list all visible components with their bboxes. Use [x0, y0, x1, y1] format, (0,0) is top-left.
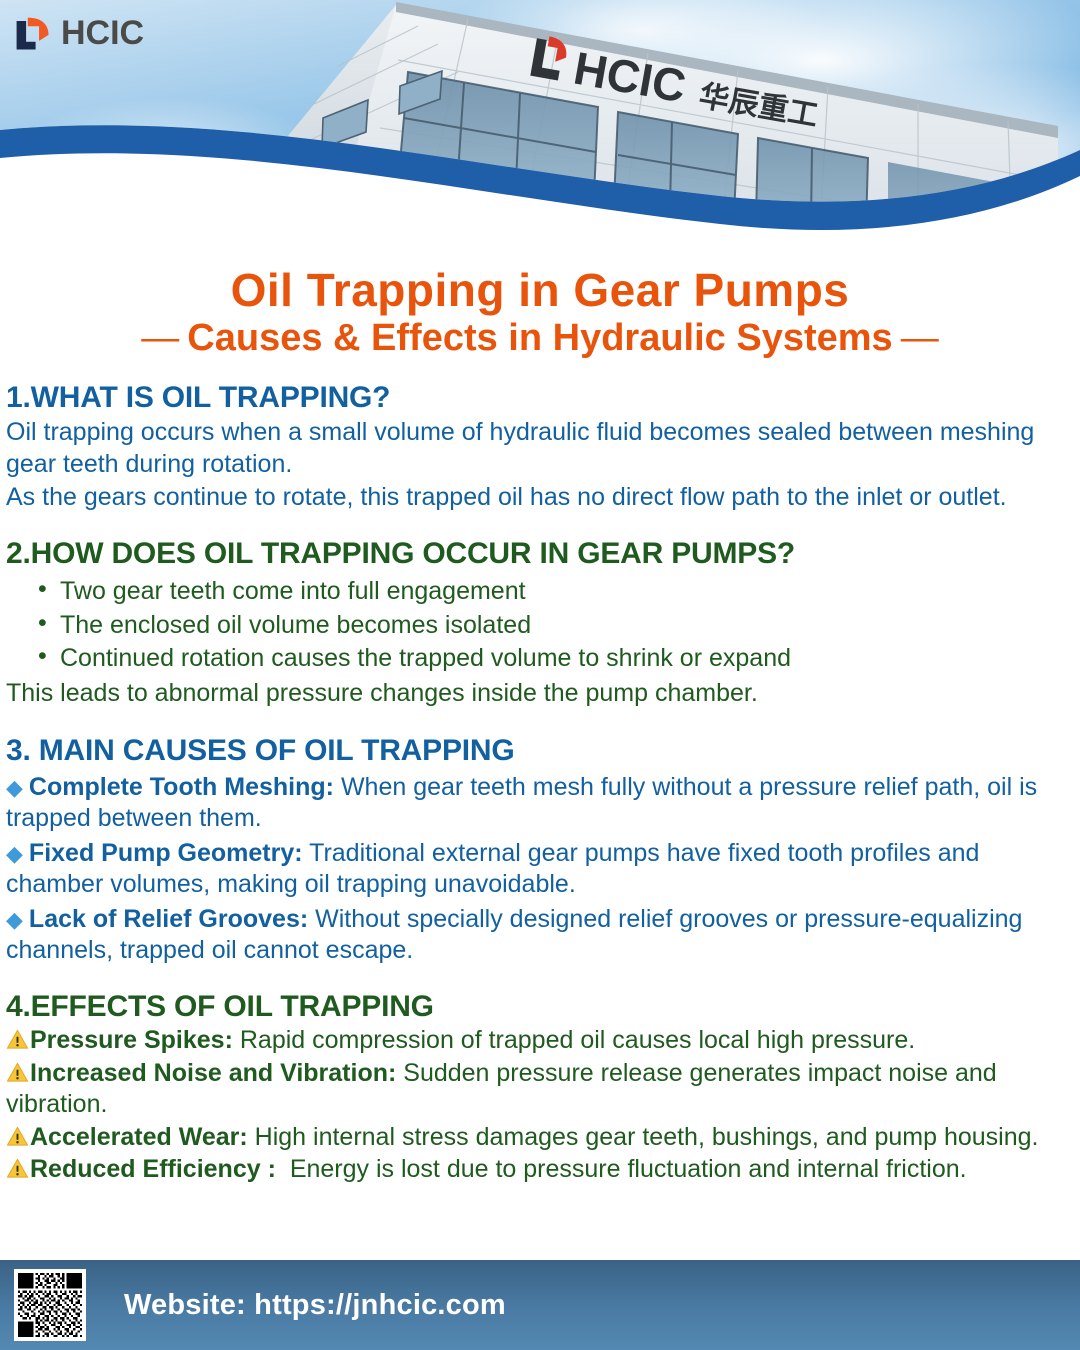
section-how-does-it-occur: 2.HOW DOES OIL TRAPPING OCCUR IN GEAR PU… — [6, 536, 1074, 709]
cause-separator: : — [294, 839, 302, 867]
hero-banner: HCIC 华辰重工 HCIC — [0, 0, 1080, 268]
section-4-heading: 4.EFFECTS OF OIL TRAPPING — [6, 989, 1074, 1024]
cause-term: Complete Tooth Meshing — [29, 773, 326, 801]
brand-logo: HCIC — [14, 14, 144, 53]
effect-text: Rapid compression of trapped oil causes … — [240, 1026, 915, 1054]
cause-separator: : — [300, 905, 308, 933]
effect-term: Increased Noise and Vibration: — [30, 1059, 396, 1087]
title-block: Oil Trapping in Gear Pumps —Causes & Eff… — [0, 266, 1080, 360]
list-item: Continued rotation causes the trapped vo… — [6, 642, 1074, 676]
cause-item: ◆Lack of Relief Grooves: Without special… — [6, 904, 1074, 967]
diamond-bullet-icon: ◆ — [6, 841, 29, 866]
page-subtitle: Causes & Effects in Hydraulic Systems — [187, 317, 892, 359]
warning-triangle-icon — [6, 1125, 29, 1148]
effect-item: Accelerated Wear: High internal stress d… — [6, 1122, 1074, 1154]
section-2-bullet-list: Two gear teeth come into full engagement… — [6, 575, 1074, 676]
effect-item: Increased Noise and Vibration: Sudden pr… — [6, 1058, 1074, 1121]
diamond-bullet-icon: ◆ — [6, 775, 29, 800]
cause-item: ◆Complete Tooth Meshing: When gear teeth… — [6, 772, 1074, 835]
effect-term: Accelerated Wear: — [30, 1123, 248, 1151]
section-1-paragraph-2: As the gears continue to rotate, this tr… — [6, 482, 1074, 514]
warning-triangle-icon — [6, 1061, 29, 1084]
effect-term: Reduced Efficiency : — [30, 1155, 276, 1183]
page-subtitle-row: —Causes & Effects in Hydraulic Systems— — [0, 317, 1080, 361]
cause-item: ◆Fixed Pump Geometry: Traditional extern… — [6, 838, 1074, 901]
section-3-heading: 3. MAIN CAUSES OF OIL TRAPPING — [6, 733, 1074, 768]
warning-triangle-icon — [6, 1157, 29, 1180]
effect-text: Energy is lost due to pressure fluctuati… — [290, 1155, 967, 1183]
brand-logo-text: HCIC — [61, 14, 144, 53]
hcic-logo-mark-icon — [14, 15, 52, 53]
footer-bar: Website: https://jnhcic.com — [0, 1260, 1080, 1350]
content-area: 1.WHAT IS OIL TRAPPING? Oil trapping occ… — [0, 380, 1080, 1188]
section-2-closing-line: This leads to abnormal pressure changes … — [6, 677, 1074, 710]
section-1-paragraph-1: Oil trapping occurs when a small volume … — [6, 417, 1074, 480]
list-item: The enclosed oil volume becomes isolated — [6, 609, 1074, 643]
blue-wave-divider — [0, 0, 1080, 268]
effect-item: Pressure Spikes: Rapid compression of tr… — [6, 1025, 1074, 1057]
page-title: Oil Trapping in Gear Pumps — [0, 266, 1080, 315]
section-main-causes: 3. MAIN CAUSES OF OIL TRAPPING ◆Complete… — [6, 733, 1074, 966]
cause-term: Fixed Pump Geometry — [29, 839, 294, 867]
section-1-heading: 1.WHAT IS OIL TRAPPING? — [6, 380, 1074, 415]
website-label[interactable]: Website: https://jnhcic.com — [124, 1289, 506, 1322]
diamond-bullet-icon: ◆ — [6, 907, 29, 932]
list-item: Two gear teeth come into full engagement — [6, 575, 1074, 609]
dash-left: — — [133, 317, 187, 359]
qr-code-svg — [18, 1273, 82, 1337]
cause-term: Lack of Relief Grooves — [29, 905, 300, 933]
effect-term: Pressure Spikes: — [30, 1026, 233, 1054]
warning-triangle-icon — [6, 1028, 29, 1051]
cause-separator: : — [326, 773, 334, 801]
effect-text: High internal stress damages gear teeth,… — [255, 1123, 1039, 1151]
dash-right: — — [893, 317, 947, 359]
section-what-is-oil-trapping: 1.WHAT IS OIL TRAPPING? Oil trapping occ… — [6, 380, 1074, 514]
section-2-heading: 2.HOW DOES OIL TRAPPING OCCUR IN GEAR PU… — [6, 536, 1074, 571]
effect-item: Reduced Efficiency : Energy is lost due … — [6, 1154, 1074, 1186]
qr-code-icon[interactable] — [14, 1269, 86, 1341]
section-effects: 4.EFFECTS OF OIL TRAPPING Pressure Spike… — [6, 989, 1074, 1186]
